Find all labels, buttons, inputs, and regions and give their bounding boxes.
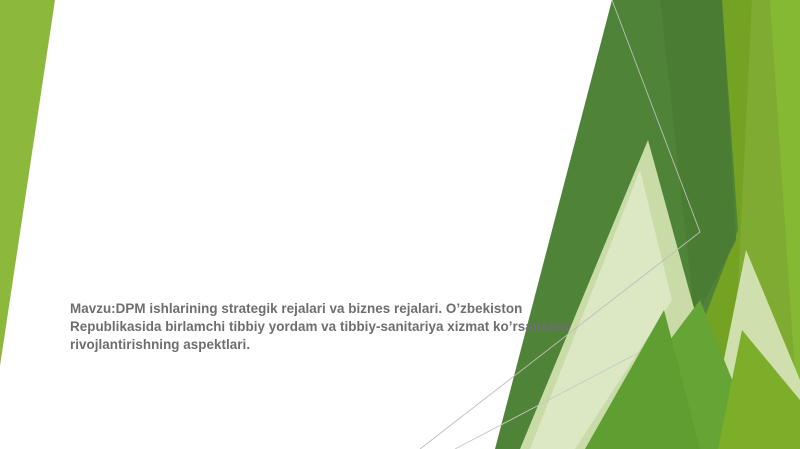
background-decoration-graphic — [0, 0, 800, 449]
slide-canvas: Mavzu:DPM ishlarining strategik rejalari… — [0, 0, 800, 449]
page-title: Mavzu:DPM ishlarining strategik rejalari… — [70, 300, 615, 353]
slide-title-block: Mavzu:DPM ishlarining strategik rejalari… — [70, 300, 615, 353]
